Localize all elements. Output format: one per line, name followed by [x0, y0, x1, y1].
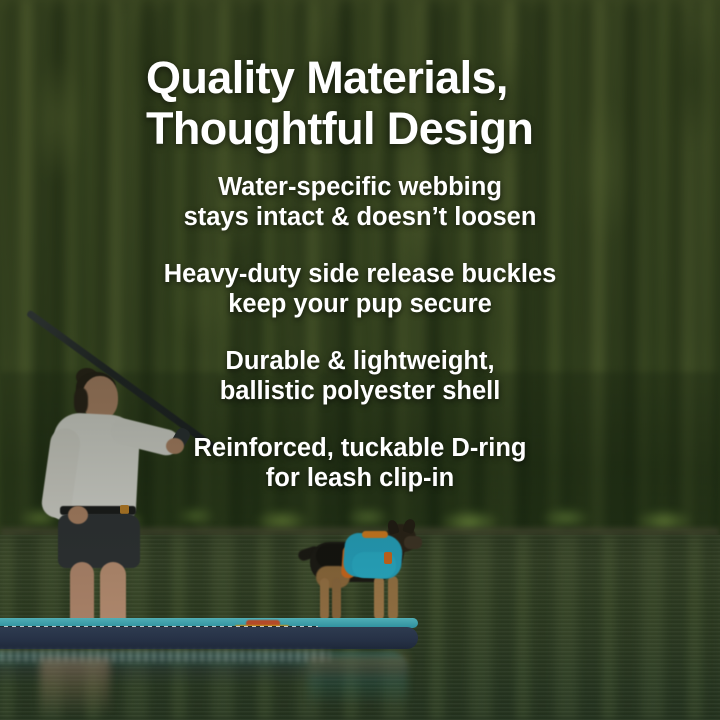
headline-line-1: Quality Materials, — [146, 52, 626, 103]
feature-list: Water-specific webbing stays intact & do… — [18, 172, 702, 493]
feature-item-shell: Durable & lightweight, ballistic polyest… — [18, 346, 702, 406]
feature-2-line-1: Heavy-duty side release buckles — [18, 259, 702, 289]
feature-4-line-1: Reinforced, tuckable D-ring — [18, 433, 702, 463]
feature-item-dring: Reinforced, tuckable D-ring for leash cl… — [18, 433, 702, 493]
feature-3-line-2: ballistic polyester shell — [18, 376, 702, 406]
headline: Quality Materials, Thoughtful Design — [146, 52, 626, 154]
promo-banner: Quality Materials, Thoughtful Design Wat… — [0, 0, 720, 720]
feature-3-line-1: Durable & lightweight, — [18, 346, 702, 376]
feature-4-line-2: for leash clip-in — [18, 463, 702, 493]
feature-2-line-2: keep your pup secure — [18, 289, 702, 319]
feature-1-line-2: stays intact & doesn’t loosen — [18, 202, 702, 232]
feature-item-webbing: Water-specific webbing stays intact & do… — [18, 172, 702, 232]
feature-1-line-1: Water-specific webbing — [18, 172, 702, 202]
feature-item-buckles: Heavy-duty side release buckles keep you… — [18, 259, 702, 319]
marketing-copy: Quality Materials, Thoughtful Design Wat… — [0, 0, 720, 720]
headline-line-2: Thoughtful Design — [146, 103, 626, 154]
